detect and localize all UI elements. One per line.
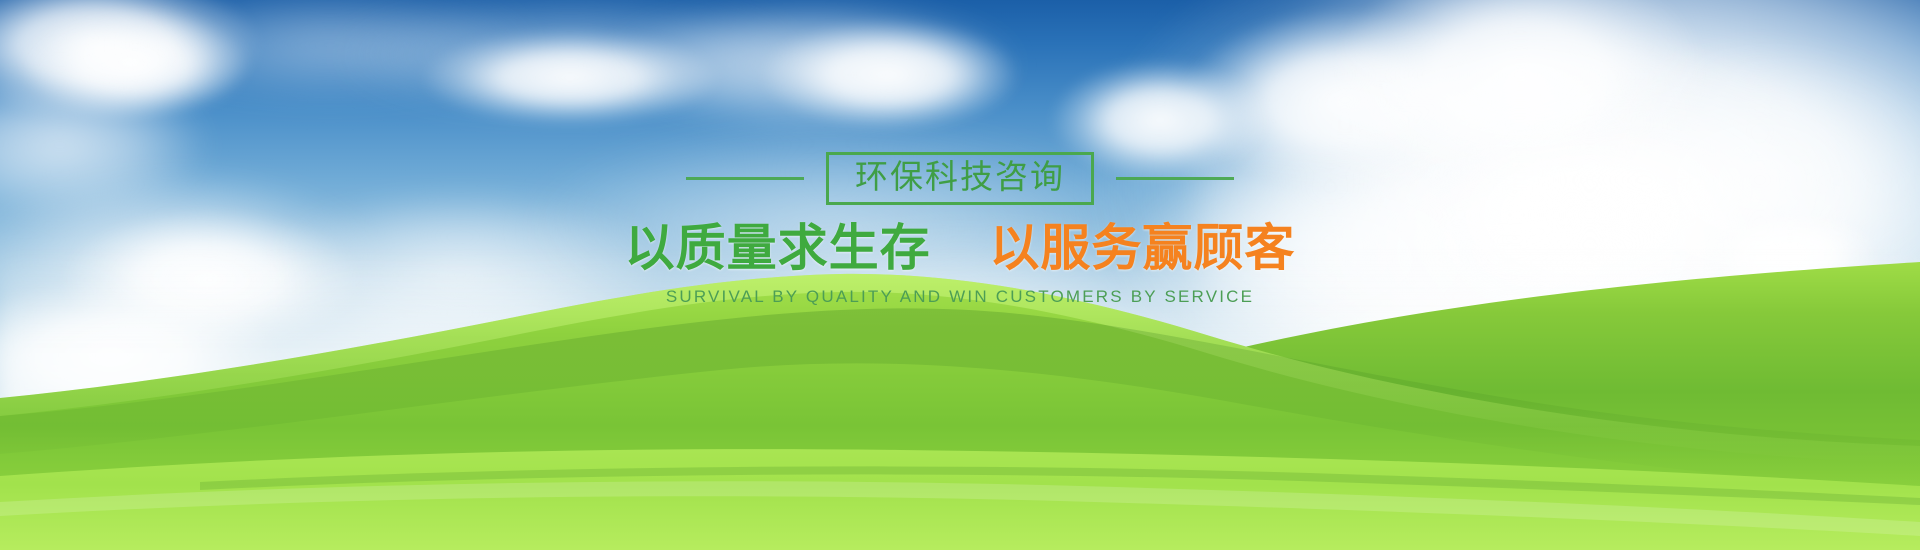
slogan-part-green: 以质量求生存 <box>625 219 931 277</box>
divider-line-right <box>1116 177 1234 180</box>
hero-banner: 环保科技咨询 以质量求生存 以服务赢顾客 SURVIVAL BY QUALITY… <box>0 0 1920 550</box>
slogan-part-orange: 以服务赢顾客 <box>989 219 1295 277</box>
divider-line-left <box>686 177 804 180</box>
main-slogan: 以质量求生存 以服务赢顾客 <box>0 222 1920 275</box>
kicker-row: 环保科技咨询 <box>0 152 1920 205</box>
kicker-label: 环保科技咨询 <box>855 157 1065 196</box>
kicker-box: 环保科技咨询 <box>826 152 1094 205</box>
slogan-subtitle: SURVIVAL BY QUALITY AND WIN CUSTOMERS BY… <box>0 287 1920 307</box>
